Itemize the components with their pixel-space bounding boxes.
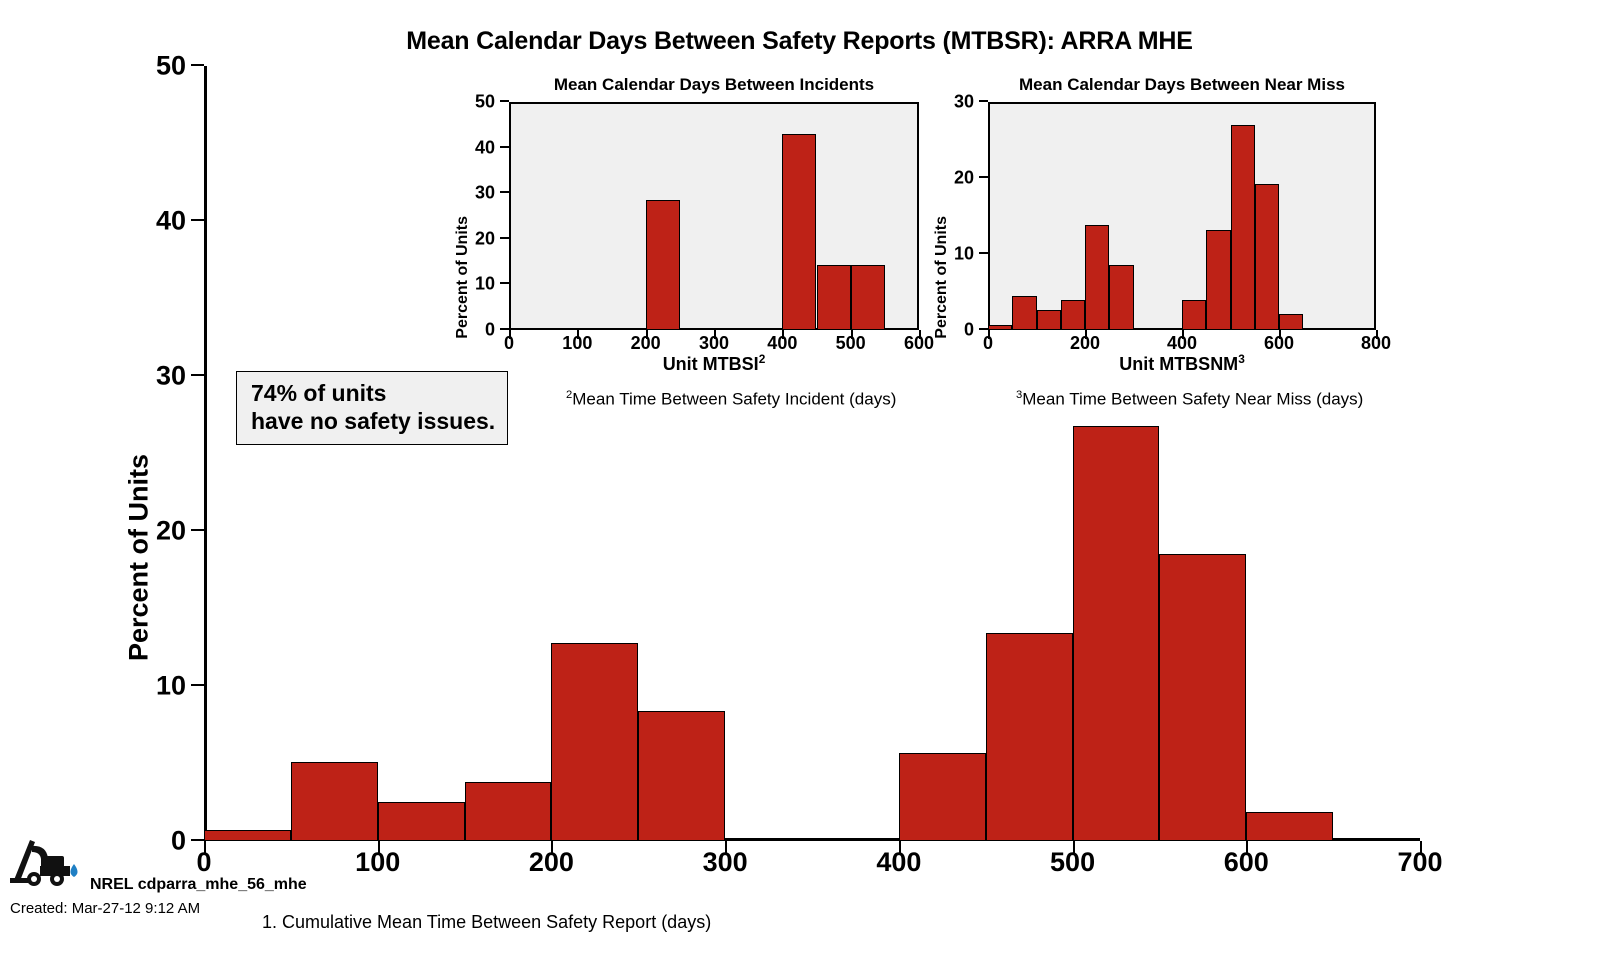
histogram-bar — [1182, 300, 1206, 330]
y-tick-label: 0 — [964, 320, 974, 341]
x-tick-label: 400 — [1167, 333, 1197, 354]
x-tick-label: 0 — [983, 333, 993, 354]
y-tick — [500, 100, 509, 102]
inset-nearmiss-y-axis-title: Percent of Units — [933, 216, 951, 339]
histogram-bar — [1109, 265, 1133, 330]
x-tick-label: 0 — [504, 333, 514, 354]
histogram-bar — [1246, 812, 1333, 841]
x-tick-label: 200 — [631, 333, 661, 354]
histogram-bar — [551, 643, 638, 841]
y-tick-label: 20 — [475, 228, 495, 249]
inset-nearmiss-x-axis-title: Unit MTBSNM3 — [988, 352, 1376, 375]
histogram-bar — [1255, 184, 1279, 330]
histogram-bar — [291, 762, 378, 841]
y-tick — [979, 176, 988, 178]
histogram-bar — [1061, 300, 1085, 330]
inset-nearmiss-x-axis-title-text: Unit MTBSNM — [1119, 354, 1238, 374]
y-tick-label: 10 — [156, 671, 186, 702]
x-tick-label: 400 — [876, 847, 921, 878]
x-tick-label: 400 — [767, 333, 797, 354]
histogram-bar — [817, 265, 851, 330]
footnote-incident: 2Mean Time Between Safety Incident (days… — [566, 389, 896, 410]
inset-incidents-x-axis-title-sup: 2 — [759, 352, 766, 366]
y-tick-label: 20 — [954, 168, 974, 189]
histogram-bar — [1159, 554, 1246, 841]
y-tick — [500, 282, 509, 284]
x-tick-label: 500 — [836, 333, 866, 354]
x-tick-label: 100 — [355, 847, 400, 878]
x-tick-label: 600 — [904, 333, 934, 354]
x-tick-label: 200 — [529, 847, 574, 878]
histogram-bar — [638, 711, 725, 841]
histogram-bar — [782, 134, 816, 330]
inset-incidents-x-axis-title: Unit MTBSI2 — [509, 352, 919, 375]
x-tick-label: 600 — [1224, 847, 1269, 878]
y-tick-label: 20 — [156, 516, 186, 547]
x-tick-label: 300 — [703, 847, 748, 878]
y-tick-label: 10 — [475, 274, 495, 295]
y-tick — [191, 529, 204, 531]
y-tick — [979, 252, 988, 254]
histogram-bar — [1012, 296, 1036, 330]
x-tick-label: 300 — [699, 333, 729, 354]
histogram-bar — [851, 265, 885, 330]
inset-nearmiss-title: Mean Calendar Days Between Near Miss — [988, 75, 1376, 95]
y-tick-label: 30 — [954, 92, 974, 113]
y-tick-label: 50 — [156, 51, 186, 82]
nrel-label: NREL cdparra_mhe_56_mhe — [90, 876, 307, 894]
figure-canvas: Mean Calendar Days Between Safety Report… — [0, 0, 1599, 960]
x-tick-label: 600 — [1264, 333, 1294, 354]
created-label: Created: Mar-27-12 9:12 AM — [10, 900, 200, 917]
y-tick — [191, 684, 204, 686]
y-tick-label: 10 — [954, 244, 974, 265]
histogram-bar — [378, 802, 465, 841]
x-tick-label: 700 — [1397, 847, 1442, 878]
main-y-axis-title: Percent of Units — [124, 454, 155, 661]
histogram-bar — [1206, 230, 1230, 330]
inset-incidents-title: Mean Calendar Days Between Incidents — [509, 75, 919, 95]
inset-nearmiss: Mean Calendar Days Between Near Miss 010… — [988, 102, 1376, 330]
histogram-bar — [988, 325, 1012, 330]
y-tick-label: 40 — [475, 137, 495, 158]
y-tick-label: 40 — [156, 206, 186, 237]
inset-nearmiss-x-axis-title-sup: 3 — [1238, 352, 1245, 366]
inset-incidents: Mean Calendar Days Between Incidents 010… — [509, 102, 919, 330]
y-tick — [191, 219, 204, 221]
y-tick — [979, 100, 988, 102]
histogram-bar — [1231, 125, 1255, 330]
histogram-bar — [1085, 225, 1109, 330]
y-tick — [500, 146, 509, 148]
x-tick-label: 200 — [1070, 333, 1100, 354]
x-tick-label: 500 — [1050, 847, 1095, 878]
histogram-bar — [1279, 314, 1303, 330]
footnote-nearmiss: 3Mean Time Between Safety Near Miss (day… — [1016, 389, 1363, 410]
histogram-bar — [1073, 426, 1160, 841]
y-tick-label: 30 — [156, 361, 186, 392]
water-drop-icon — [71, 864, 78, 877]
y-tick-label: 0 — [485, 320, 495, 341]
y-tick — [191, 64, 204, 66]
footnote-nearmiss-text: Mean Time Between Safety Near Miss (days… — [1022, 390, 1363, 409]
histogram-bar — [1037, 310, 1061, 330]
y-tick — [500, 328, 509, 330]
histogram-bar — [646, 200, 680, 330]
y-tick — [979, 328, 988, 330]
y-tick — [500, 237, 509, 239]
inset-incidents-x-axis-title-text: Unit MTBSI — [663, 354, 759, 374]
histogram-bar — [465, 782, 552, 841]
histogram-bar — [986, 633, 1073, 841]
footnote-incident-text: Mean Time Between Safety Incident (days) — [572, 390, 896, 409]
annotation-callout: 74% of units have no safety issues. — [236, 371, 508, 445]
nrel-stamp: NREL cdparra_mhe_56_mhe Created: Mar-27-… — [8, 836, 308, 926]
inset-nearmiss-bars — [988, 102, 1376, 330]
y-tick — [191, 374, 204, 376]
x-tick-label: 100 — [562, 333, 592, 354]
inset-incidents-bars — [509, 102, 919, 330]
footnote-main: 1. Cumulative Mean Time Between Safety R… — [262, 912, 711, 933]
page-title: Mean Calendar Days Between Safety Report… — [0, 27, 1599, 56]
y-tick-label: 50 — [475, 92, 495, 113]
forklift-icon — [8, 836, 86, 888]
y-tick — [500, 191, 509, 193]
inset-incidents-y-axis-title: Percent of Units — [454, 216, 472, 339]
histogram-bar — [899, 753, 986, 841]
x-tick-label: 800 — [1361, 333, 1391, 354]
y-tick-label: 30 — [475, 183, 495, 204]
